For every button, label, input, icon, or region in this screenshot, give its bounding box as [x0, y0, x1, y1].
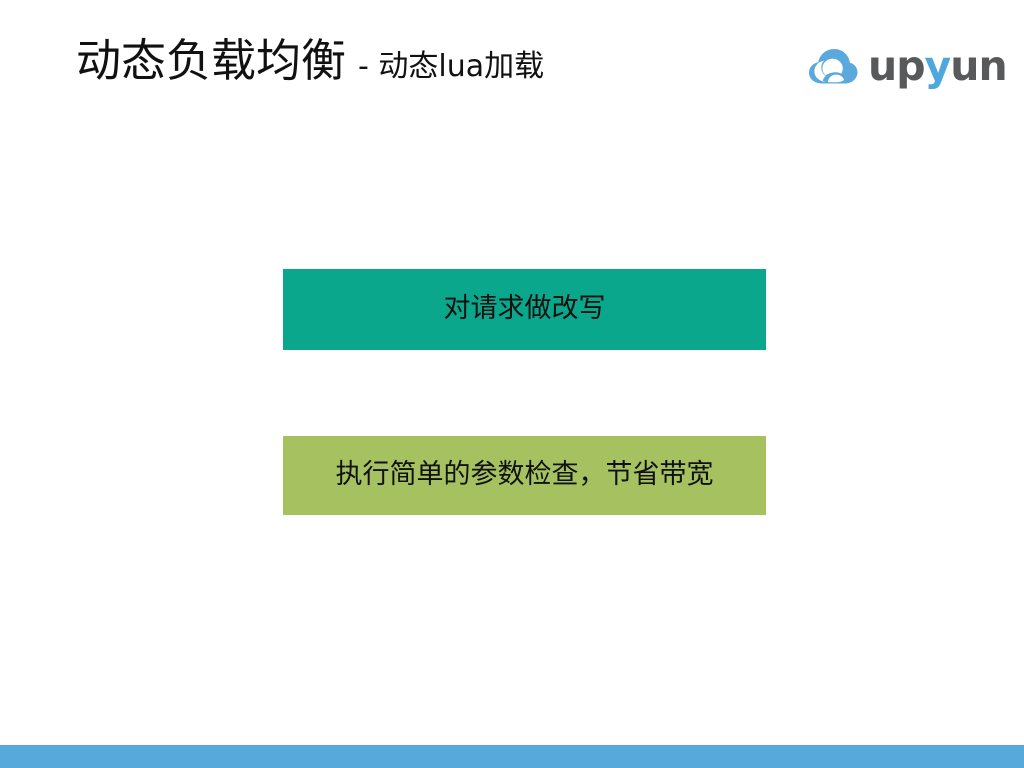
wordmark-un: un	[950, 46, 1006, 87]
wordmark-y: y	[925, 46, 951, 87]
cloud-icon	[806, 46, 858, 86]
content-box-rewrite: 对请求做改写	[283, 269, 766, 350]
upyun-logo: up y un	[806, 40, 1014, 92]
wordmark-up: up	[868, 46, 925, 87]
content-box-rewrite-label: 对请求做改写	[444, 293, 606, 325]
page-title: 动态负载均衡 - 动态lua加载	[76, 38, 544, 83]
content-box-param-check-label: 执行简单的参数检查，节省带宽	[336, 459, 714, 491]
upyun-wordmark: up y un	[868, 46, 1007, 87]
page-title-main: 动态负载均衡	[76, 38, 346, 83]
footer-accent-bar	[0, 745, 1024, 768]
content-box-param-check: 执行简单的参数检查，节省带宽	[283, 436, 766, 515]
page-title-subtitle: - 动态lua加载	[358, 52, 544, 82]
slide-canvas: 动态负载均衡 - 动态lua加载 up y un 对请求做改写 执行简单的参数检…	[0, 0, 1024, 768]
